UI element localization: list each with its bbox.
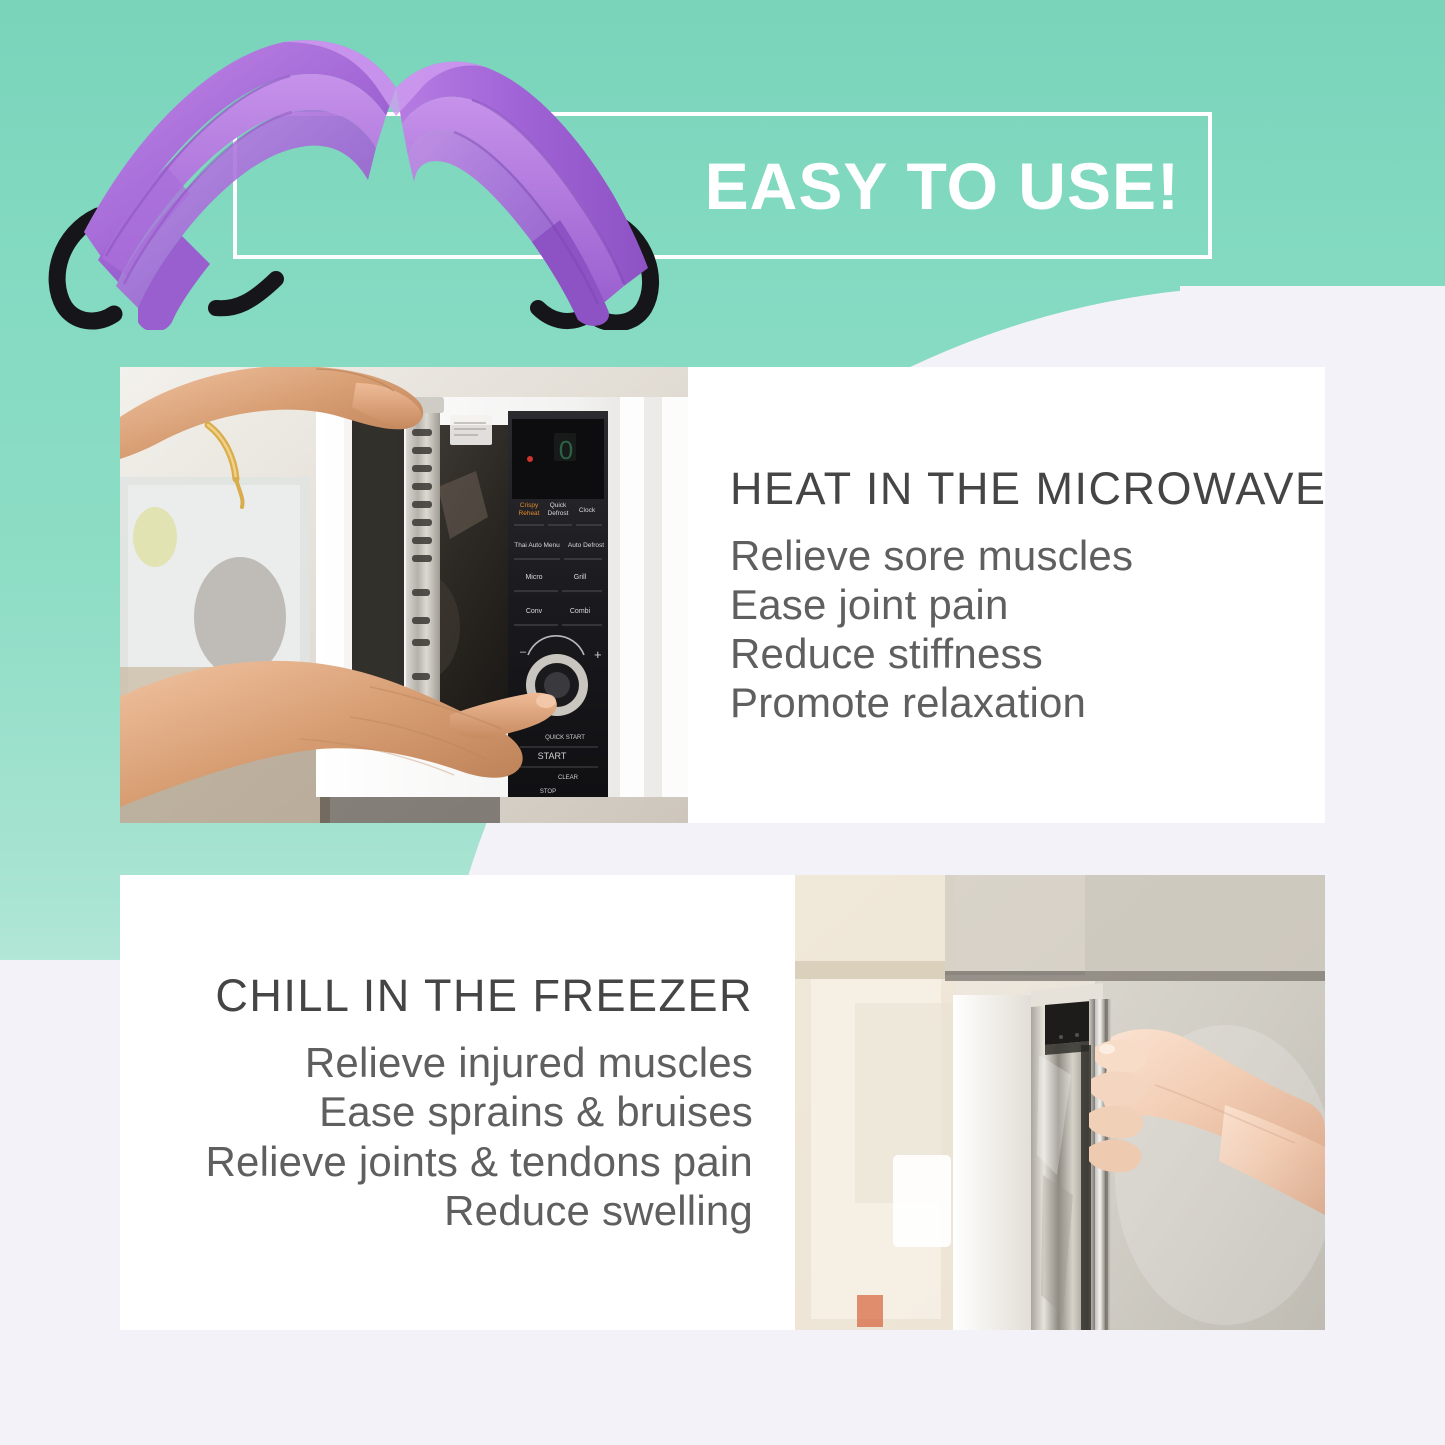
svg-text:0: 0 <box>559 435 573 465</box>
freezer-illustration <box>795 875 1325 1330</box>
heat-wrap-illustration <box>40 20 680 330</box>
section-card-freezer: CHILL IN THE FREEZER Relieve injured mus… <box>120 875 1325 1330</box>
microwave-bullet-2: Ease joint pain <box>730 580 1009 629</box>
svg-text:–: – <box>520 646 527 658</box>
freezer-heading: CHILL IN THE FREEZER <box>215 970 753 1022</box>
strap-left-lower <box>216 279 276 308</box>
freezer-bullet-2: Ease sprains & bruises <box>319 1087 753 1136</box>
panel-label-start: START <box>538 751 567 761</box>
infographic-stage: EASY TO USE! <box>0 0 1445 1445</box>
panel-label-grill: Grill <box>574 574 587 581</box>
panel-label-quick-defrost: Quick <box>550 502 567 509</box>
panel-label-stop: STOP <box>540 789 556 795</box>
panel-label-micro: Micro <box>525 574 542 581</box>
svg-text:+: + <box>594 647 602 662</box>
fingernail-freezer <box>1099 1044 1115 1054</box>
svg-text:Defrost: Defrost <box>548 510 569 517</box>
microwave-heading: HEAT IN THE MICROWAVE <box>730 463 1325 515</box>
product-image-heat-wrap <box>40 20 680 330</box>
microwave-bullet-4: Promote relaxation <box>730 678 1086 727</box>
microwave-bullet-3: Reduce stiffness <box>730 629 1043 678</box>
microwave-photo: 0 Crispy Reheat Quick Defrost Clock Thai… <box>120 367 688 823</box>
freezer-copy: CHILL IN THE FREEZER Relieve injured mus… <box>120 875 795 1330</box>
freezer-bullet-4: Reduce swelling <box>444 1186 753 1235</box>
panel-label-conv: Conv <box>526 608 543 615</box>
finger-4 <box>1089 1140 1141 1173</box>
section-card-microwave: 0 Crispy Reheat Quick Defrost Clock Thai… <box>120 367 1325 823</box>
microwave-bullet-1: Relieve sore muscles <box>730 531 1133 580</box>
panel-label-thai-auto-menu: Thai Auto Menu <box>514 542 560 549</box>
panel-label-clear: CLEAR <box>558 775 579 781</box>
microwave-copy: HEAT IN THE MICROWAVE Relieve sore muscl… <box>688 367 1325 823</box>
panel-label-crispy-reheat: Crispy <box>520 502 539 509</box>
panel-label-quick-start: QUICK START <box>545 735 585 741</box>
freezer-bullet-3: Relieve joints & tendons pain <box>206 1137 753 1186</box>
panel-label-clock: Clock <box>579 507 596 514</box>
panel-label-auto-defrost: Auto Defrost <box>568 542 604 549</box>
freezer-photo <box>795 875 1325 1330</box>
fingernail <box>536 694 556 708</box>
panel-label-combi: Combi <box>570 608 591 615</box>
banner-title: EASY TO USE! <box>705 148 1180 224</box>
svg-text:Reheat: Reheat <box>519 510 540 517</box>
freezer-bullet-1: Relieve injured muscles <box>305 1038 753 1087</box>
microwave-illustration: 0 Crispy Reheat Quick Defrost Clock Thai… <box>120 367 688 823</box>
